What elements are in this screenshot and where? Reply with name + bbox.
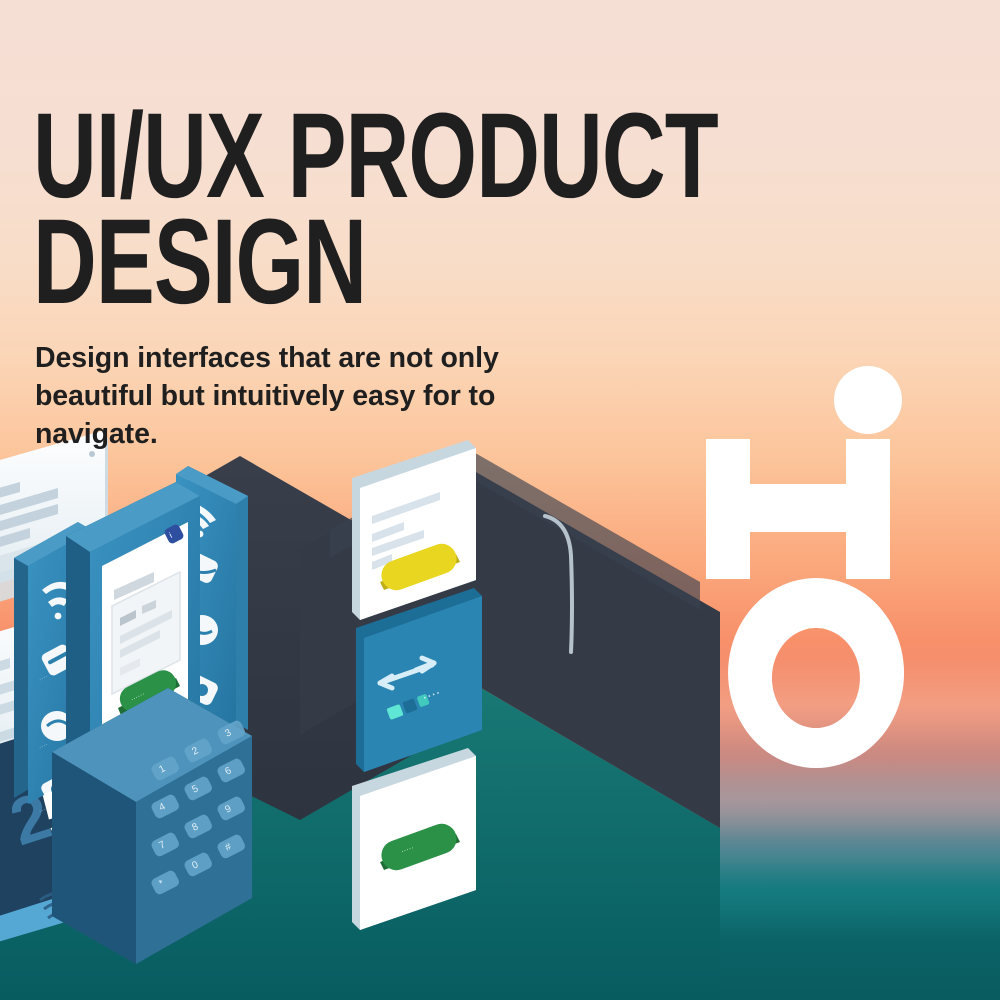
hi-logo bbox=[700, 366, 940, 776]
page-title: UI/UX PRODUCT DESIGN bbox=[33, 104, 861, 317]
i-stem bbox=[846, 439, 890, 579]
i-dot bbox=[834, 366, 902, 434]
poster-canvas: 2 5 bbox=[0, 0, 1000, 1000]
o-ring bbox=[728, 578, 904, 768]
page-subtitle: Design interfaces that are not only beau… bbox=[35, 340, 635, 454]
isometric-illustration: 2 5 bbox=[0, 430, 720, 1000]
